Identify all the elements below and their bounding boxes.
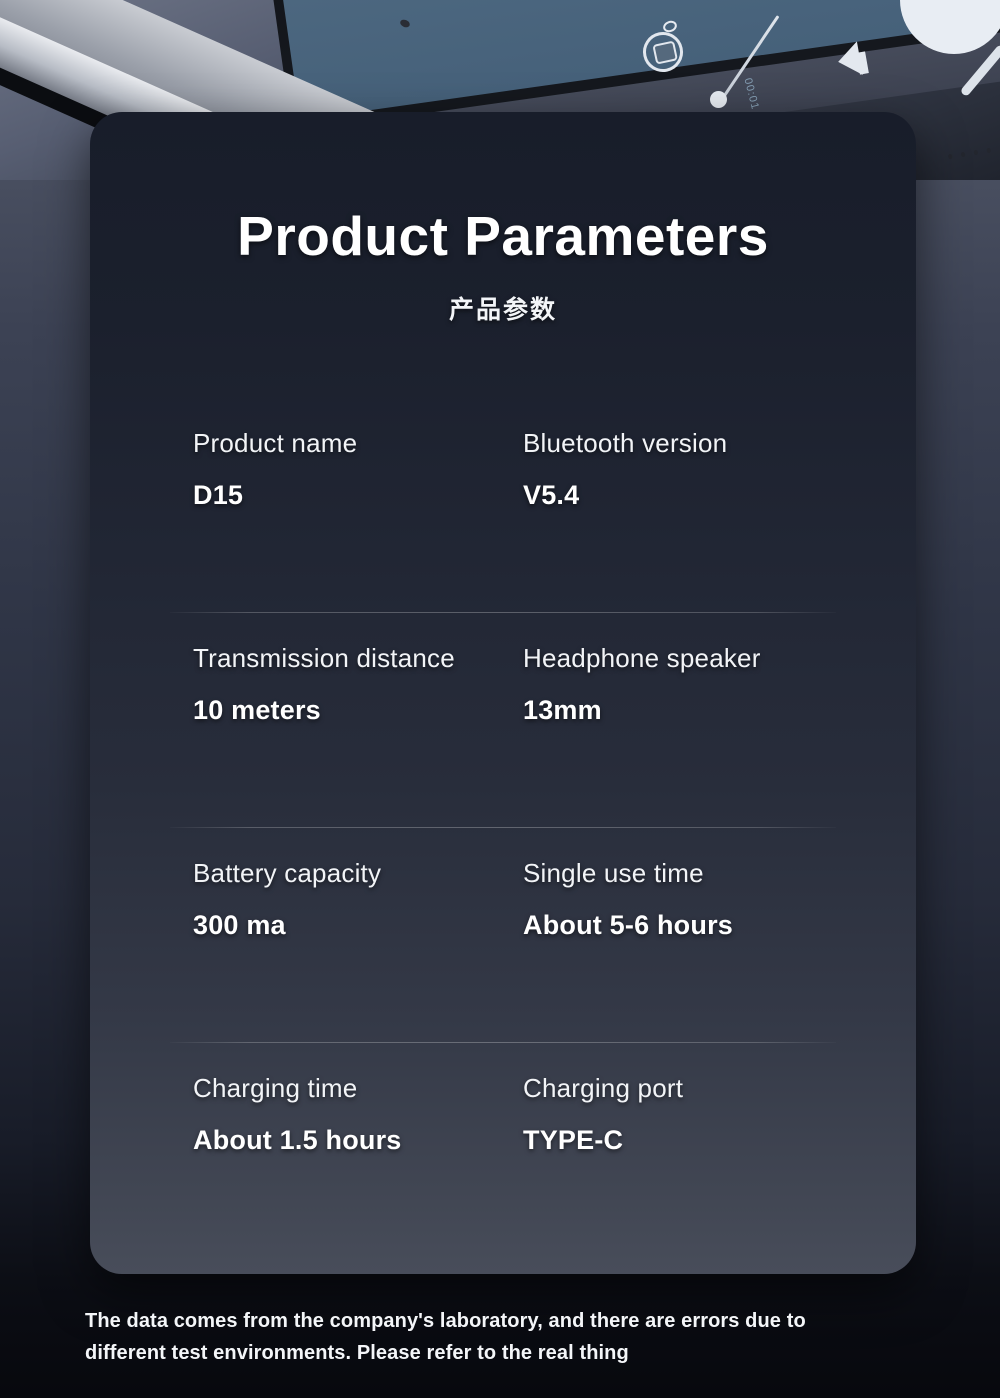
- disclaimer-note: The data comes from the company's labora…: [85, 1305, 885, 1370]
- spec-cell-battery-capacity: Battery capacity 300 ma: [193, 858, 523, 1013]
- spec-label: Single use time: [523, 858, 853, 889]
- spec-cell-charging-time: Charging time About 1.5 hours: [193, 1073, 523, 1228]
- spec-label: Battery capacity: [193, 858, 523, 889]
- product-parameters-page: 00:01 Product Parameters 产品参数 Product na…: [0, 0, 1000, 1398]
- spec-cell-bluetooth-version: Bluetooth version V5.4: [523, 428, 853, 583]
- spec-value: 13mm: [523, 695, 853, 726]
- page-title: Product Parameters: [90, 204, 916, 268]
- spec-label: Charging port: [523, 1073, 853, 1104]
- spec-value: About 1.5 hours: [193, 1125, 523, 1156]
- spec-value: 10 meters: [193, 695, 523, 726]
- page-subtitle-chinese: 产品参数: [90, 290, 916, 326]
- spec-label: Transmission distance: [193, 643, 523, 674]
- spec-cell-charging-port: Charging port TYPE-C: [523, 1073, 853, 1228]
- spec-label: Bluetooth version: [523, 428, 853, 459]
- playback-slider-knob: [710, 91, 727, 108]
- spec-label: Charging time: [193, 1073, 523, 1104]
- spec-value: About 5-6 hours: [523, 910, 853, 941]
- spec-cell-single-use-time: Single use time About 5-6 hours: [523, 858, 853, 1013]
- spec-cell-transmission-distance: Transmission distance 10 meters: [193, 643, 523, 798]
- table-row: Charging time About 1.5 hours Charging p…: [90, 1043, 916, 1258]
- specifications-table: Product name D15 Bluetooth version V5.4 …: [90, 398, 916, 1258]
- spec-value: D15: [193, 480, 523, 511]
- spec-value: 300 ma: [193, 910, 523, 941]
- table-row: Product name D15 Bluetooth version V5.4: [90, 398, 916, 613]
- spec-label: Headphone speaker: [523, 643, 853, 674]
- product-parameters-card: Product Parameters 产品参数 Product name D15…: [90, 112, 916, 1274]
- spec-label: Product name: [193, 428, 523, 459]
- spec-value: V5.4: [523, 480, 853, 511]
- spec-cell-headphone-speaker: Headphone speaker 13mm: [523, 643, 853, 798]
- table-row: Battery capacity 300 ma Single use time …: [90, 828, 916, 1043]
- table-row: Transmission distance 10 meters Headphon…: [90, 613, 916, 828]
- spec-cell-product-name: Product name D15: [193, 428, 523, 583]
- spec-value: TYPE-C: [523, 1125, 853, 1156]
